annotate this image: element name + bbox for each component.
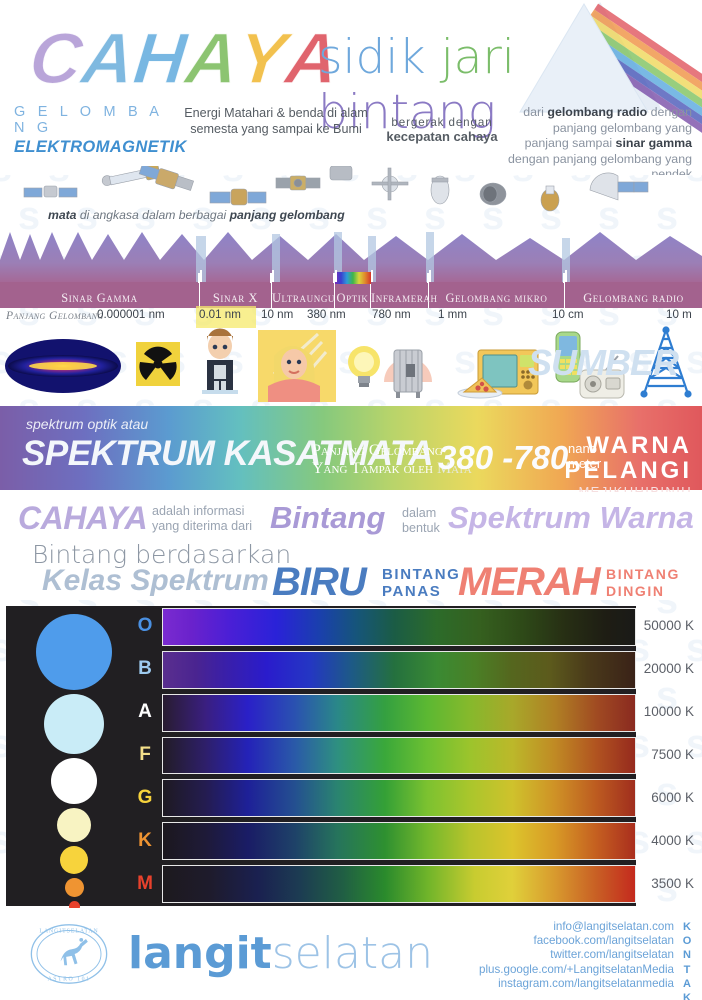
star-disc-F	[57, 808, 91, 842]
spectral-class-A: A	[128, 701, 162, 723]
warna-label: WARNA	[564, 434, 692, 458]
visible-spectrum-band: spektrum optik atau SPEKTRUM KASATMATA P…	[0, 406, 702, 490]
kontak-letter-5: K	[680, 991, 694, 1000]
stellar-spectra-chart: OBAFGKM	[6, 606, 636, 906]
spectrum-strip-F	[162, 737, 636, 775]
em-band-label: Gelombang mikro	[429, 291, 564, 306]
em-scale-tick	[371, 270, 373, 282]
brand-wordmark: langitselatan	[128, 924, 433, 984]
kontak-vertical-label: KONTAK	[680, 920, 694, 1000]
temperature-label-A: 10000 K	[644, 704, 694, 719]
spectrum-strip-O	[162, 608, 636, 646]
spectral-class-column: OBAFGKM	[128, 606, 162, 906]
kontak-letter-4: A	[680, 977, 694, 991]
header-col-speed: bergerak dengan kecepatan cahaya	[382, 116, 502, 144]
kontak-letter-0: K	[680, 920, 694, 934]
contact-link-0[interactable]: info@langitselatan.com	[479, 920, 674, 934]
adalah-line-2: yang diterima dari	[152, 519, 252, 534]
spektrum-warna-label: Spektrum Warna	[448, 500, 694, 536]
em-band-label: Ultraungu	[272, 291, 334, 306]
title-letter-a-1: A	[78, 24, 135, 94]
warna-pelangi-block: WARNA PELANGI MEJIKUHIBINIU	[564, 434, 692, 499]
spectrum-strip-K	[162, 822, 636, 860]
header-col-energy: Energi Matahari & benda di alam semesta …	[176, 105, 376, 137]
em-scale-tick	[335, 270, 337, 282]
em-band-inframerah: Inframerah	[371, 282, 429, 308]
title-letter-a-3: A	[182, 24, 239, 94]
spectra-strips-column	[162, 606, 636, 906]
statement-block: CAHAYA adalah informasi yang diterima da…	[0, 492, 702, 600]
star-disc-O	[36, 614, 112, 690]
em-band-label: Sinar X	[200, 291, 271, 306]
em-scale-tick	[565, 270, 567, 282]
elektromagnetik-label: ELEKTROMAGNETIK	[14, 138, 174, 157]
range-text-1: dari	[523, 105, 547, 119]
header-col-electromagnetic: G E L O M B A N G ELEKTROMAGNETIK	[14, 104, 174, 157]
adalah-line-1: adalah informasi	[152, 504, 252, 519]
galaxy-allsky-icon	[5, 339, 121, 393]
sunbathing-woman-icon	[258, 330, 336, 402]
header: CAHAYA sidik jari bintang G E L O M B A …	[0, 0, 702, 175]
spectral-class-B: B	[128, 658, 162, 680]
wavelength-label-1: 0.01 nm	[199, 308, 241, 321]
brand-langit: langit	[128, 928, 272, 979]
sumber-label: SUMBER	[528, 342, 678, 384]
biru-label: BIRU	[272, 560, 366, 605]
dalam-line-2: bentuk	[402, 521, 440, 536]
spectral-class-G: G	[128, 787, 162, 809]
dalam-bentuk-label: dalam bentuk	[402, 506, 440, 535]
temperature-column: 50000 K20000 K10000 K7500 K6000 K4000 K3…	[636, 606, 702, 906]
em-spectrum-bar: Sinar GammaSinar XUltraunguOptikInframer…	[0, 282, 702, 308]
pg-w3: Yang	[312, 460, 347, 477]
bintang-panas-label: BINTANG PANAS	[382, 566, 460, 600]
title-letter-y-4: Y	[234, 24, 287, 94]
em-band-label: Optik	[335, 291, 370, 306]
title-letter-h-2: H	[130, 24, 187, 94]
dingin-line-1: BINTANG	[606, 566, 680, 583]
spectrum-strip-A	[162, 694, 636, 732]
spectrum-strip-B	[162, 651, 636, 689]
seal-top-text: LANGITSELATAN	[39, 928, 98, 934]
wavelength-caption: Panjang Gelombang	[6, 309, 104, 322]
em-band-gelombang-mikro: Gelombang mikro	[429, 282, 565, 308]
contact-list: info@langitselatan.comfacebook.com/langi…	[479, 920, 674, 991]
star-disc-A	[51, 758, 97, 804]
footer: LANGITSELATAN ASTRO 101 langitselatan in…	[0, 908, 702, 1000]
pg-w4: Tampak	[351, 460, 400, 477]
seal-bottom-text: ASTRO 101	[48, 976, 91, 982]
star-disc-K	[65, 878, 84, 897]
panas-line-2: PANAS	[382, 583, 460, 600]
dingin-line-2: DINGIN	[606, 583, 680, 600]
wavelength-row: Panjang Gelombang 0.000001 nm0.01 nm10 n…	[0, 308, 702, 328]
pg-w1: Panjang	[312, 442, 365, 459]
em-scale-tick	[200, 270, 202, 282]
em-scale-tick	[429, 270, 431, 282]
xray-child-icon	[202, 328, 238, 394]
wavelength-label-0: 0.000001 nm	[97, 308, 165, 321]
pg-w2: Gelombang	[369, 442, 443, 459]
caption-rest: di angkasa dalam berbagai	[76, 208, 229, 222]
radioactive-icon	[136, 342, 180, 386]
temperature-label-B: 20000 K	[644, 661, 694, 676]
gelombang-radio-term: gelombang radio	[547, 105, 647, 119]
pelangi-label: PELANGI	[564, 458, 692, 483]
header-col-range: dari gelombang radio dengan panjang gelo…	[508, 105, 692, 175]
contact-link-4[interactable]: instagram.com/langitselatanmedia	[479, 977, 674, 991]
spectral-class-M: M	[128, 873, 162, 895]
contact-link-2[interactable]: twitter.com/langitselatan	[479, 948, 674, 962]
adalah-informasi-label: adalah informasi yang diterima dari	[152, 504, 252, 533]
temperature-label-F: 7500 K	[651, 747, 694, 762]
kontak-letter-3: T	[680, 963, 694, 977]
wavelength-label-4: 780 nm	[372, 308, 411, 321]
wavelength-label-7: 10 m	[666, 308, 692, 321]
temperature-label-G: 6000 K	[651, 790, 694, 805]
star-disc-B	[44, 694, 104, 754]
page-title: CAHAYA	[30, 24, 338, 94]
pg-w5: oleh	[404, 460, 433, 477]
caption-bold-1: mata	[48, 208, 76, 222]
bintang-dingin-label: BINTANG DINGIN	[606, 566, 680, 600]
cahaya-label: CAHAYA	[18, 500, 147, 537]
dalam-line-1: dalam	[402, 506, 440, 521]
temperature-label-K: 4000 K	[651, 833, 694, 848]
spectral-class-F: F	[128, 744, 162, 766]
temperature-label-O: 50000 K	[644, 618, 694, 633]
spectrum-strip-M	[162, 865, 636, 903]
em-scale-tick	[272, 270, 274, 282]
title-letter-c-0: C	[26, 24, 83, 94]
em-band-gelombang-radio: Gelombang radio	[565, 282, 702, 308]
satellites-caption: mata di angkasa dalam berbagai panjang g…	[48, 208, 345, 222]
heater-icon	[384, 350, 432, 398]
panas-line-1: BINTANG	[382, 566, 460, 583]
wavelength-label-2: 10 nm	[261, 308, 293, 321]
em-band-label: Inframerah	[371, 291, 428, 306]
gelombang-label: G E L O M B A N G	[14, 104, 174, 136]
microwave-pizza-icon	[458, 350, 538, 398]
subtitle-word-1: sidik	[318, 30, 426, 85]
speed-line1: bergerak dengan	[382, 116, 502, 129]
merah-label: MERAH	[458, 560, 600, 605]
em-band-label: Sinar Gamma	[0, 291, 199, 306]
em-band-label: Gelombang radio	[565, 291, 702, 306]
contact-link-1[interactable]: facebook.com/langitselatan	[479, 934, 674, 948]
contact-link-3[interactable]: plus.google.com/+LangitselatanMedia	[479, 963, 674, 977]
brand-selatan: selatan	[272, 928, 433, 979]
wavelength-label-6: 10 cm	[552, 308, 584, 321]
wavelength-label-3: 380 nm	[307, 308, 346, 321]
langitselatan-seal-logo: LANGITSELATAN ASTRO 101	[26, 922, 112, 986]
em-band-optik: Optik	[335, 282, 371, 308]
wavelength-label-5: 1 mm	[438, 308, 467, 321]
sinar-gamma-term: sinar gamma	[616, 136, 692, 150]
infographic-page: ssssssssssssssssssssssssssssssssssssssss…	[0, 0, 702, 1000]
sources-row: SUMBER	[0, 326, 702, 404]
wavelength-range-value: 380 -780	[438, 439, 568, 477]
subtitle-word-2: jari	[441, 30, 515, 85]
spectrum-strip-G	[162, 779, 636, 817]
spectral-class-K: K	[128, 830, 162, 852]
em-band-sinar-x: Sinar X	[200, 282, 272, 308]
bintang-label: Bintang	[270, 500, 385, 536]
spectral-class-O: O	[128, 615, 162, 637]
kontak-letter-1: O	[680, 934, 694, 948]
em-band-ultraungu: Ultraungu	[272, 282, 335, 308]
kelas-spektrum-label: Kelas Spektrum	[42, 564, 269, 598]
spektrum-optik-label: spektrum optik atau	[26, 416, 148, 432]
optik-rainbow-swatch	[335, 272, 371, 284]
header-columns: G E L O M B A N G ELEKTROMAGNETIK Energi…	[0, 104, 702, 174]
lightbulb-icon	[348, 346, 380, 387]
kontak-letter-2: N	[680, 948, 694, 962]
speed-line2: kecepatan cahaya	[382, 129, 502, 144]
caption-bold-2: panjang gelombang	[230, 208, 345, 222]
star-disc-G	[60, 846, 88, 874]
em-band-sinar-gamma: Sinar Gamma	[0, 282, 200, 308]
temperature-label-M: 3500 K	[651, 876, 694, 891]
